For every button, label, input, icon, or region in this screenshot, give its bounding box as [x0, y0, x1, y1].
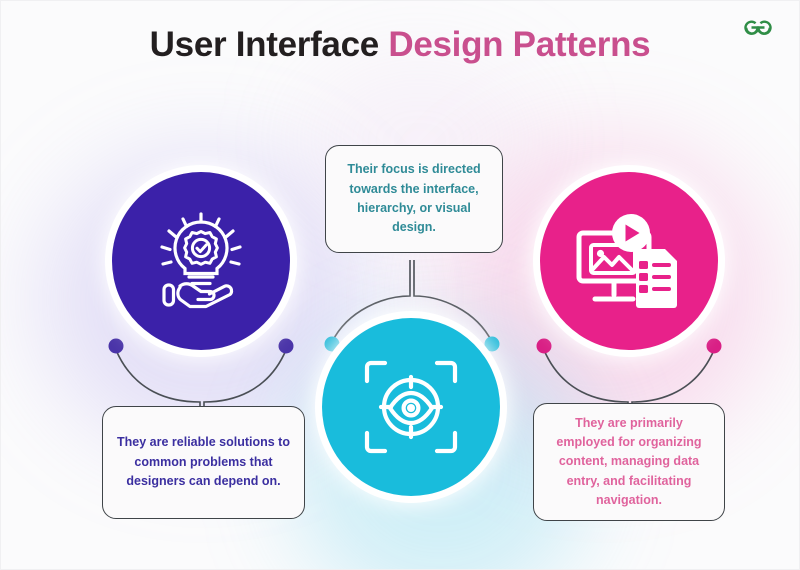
geeksforgeeks-logo-icon: [738, 16, 778, 46]
focus-node-circle[interactable]: [322, 318, 500, 496]
card-top-center-text: Their focus is directed towards the inte…: [339, 160, 489, 238]
card-bottom-left: They are reliable solutions to common pr…: [102, 406, 305, 519]
monitor-media-document-icon: [573, 207, 685, 315]
infographic-canvas: User Interface Design Patterns: [0, 0, 800, 570]
idea-node-circle[interactable]: [112, 172, 290, 350]
connector-dot-right-a: [537, 339, 552, 354]
lightbulb-gear-in-hand-icon: [147, 207, 255, 315]
eye-focus-target-icon: [359, 355, 463, 459]
connector-dot-right-b: [707, 339, 722, 354]
card-top-center: Their focus is directed towards the inte…: [325, 145, 503, 253]
card-bottom-right: They are primarily employed for organizi…: [533, 403, 725, 521]
connector-dot-center-a: [325, 337, 340, 352]
connector-dot-center-b: [485, 337, 500, 352]
page-title-primary: User Interface: [150, 25, 389, 64]
content-node-circle[interactable]: [540, 172, 718, 350]
card-bottom-right-text: They are primarily employed for organizi…: [547, 414, 711, 511]
page-title: User Interface Design Patterns: [0, 24, 800, 66]
card-bottom-left-text: They are reliable solutions to common pr…: [116, 433, 291, 491]
page-header: User Interface Design Patterns: [0, 24, 800, 66]
page-title-accent: Design Patterns: [388, 25, 650, 64]
connector-dot-left-a: [109, 339, 124, 354]
connector-dot-left-b: [279, 339, 294, 354]
